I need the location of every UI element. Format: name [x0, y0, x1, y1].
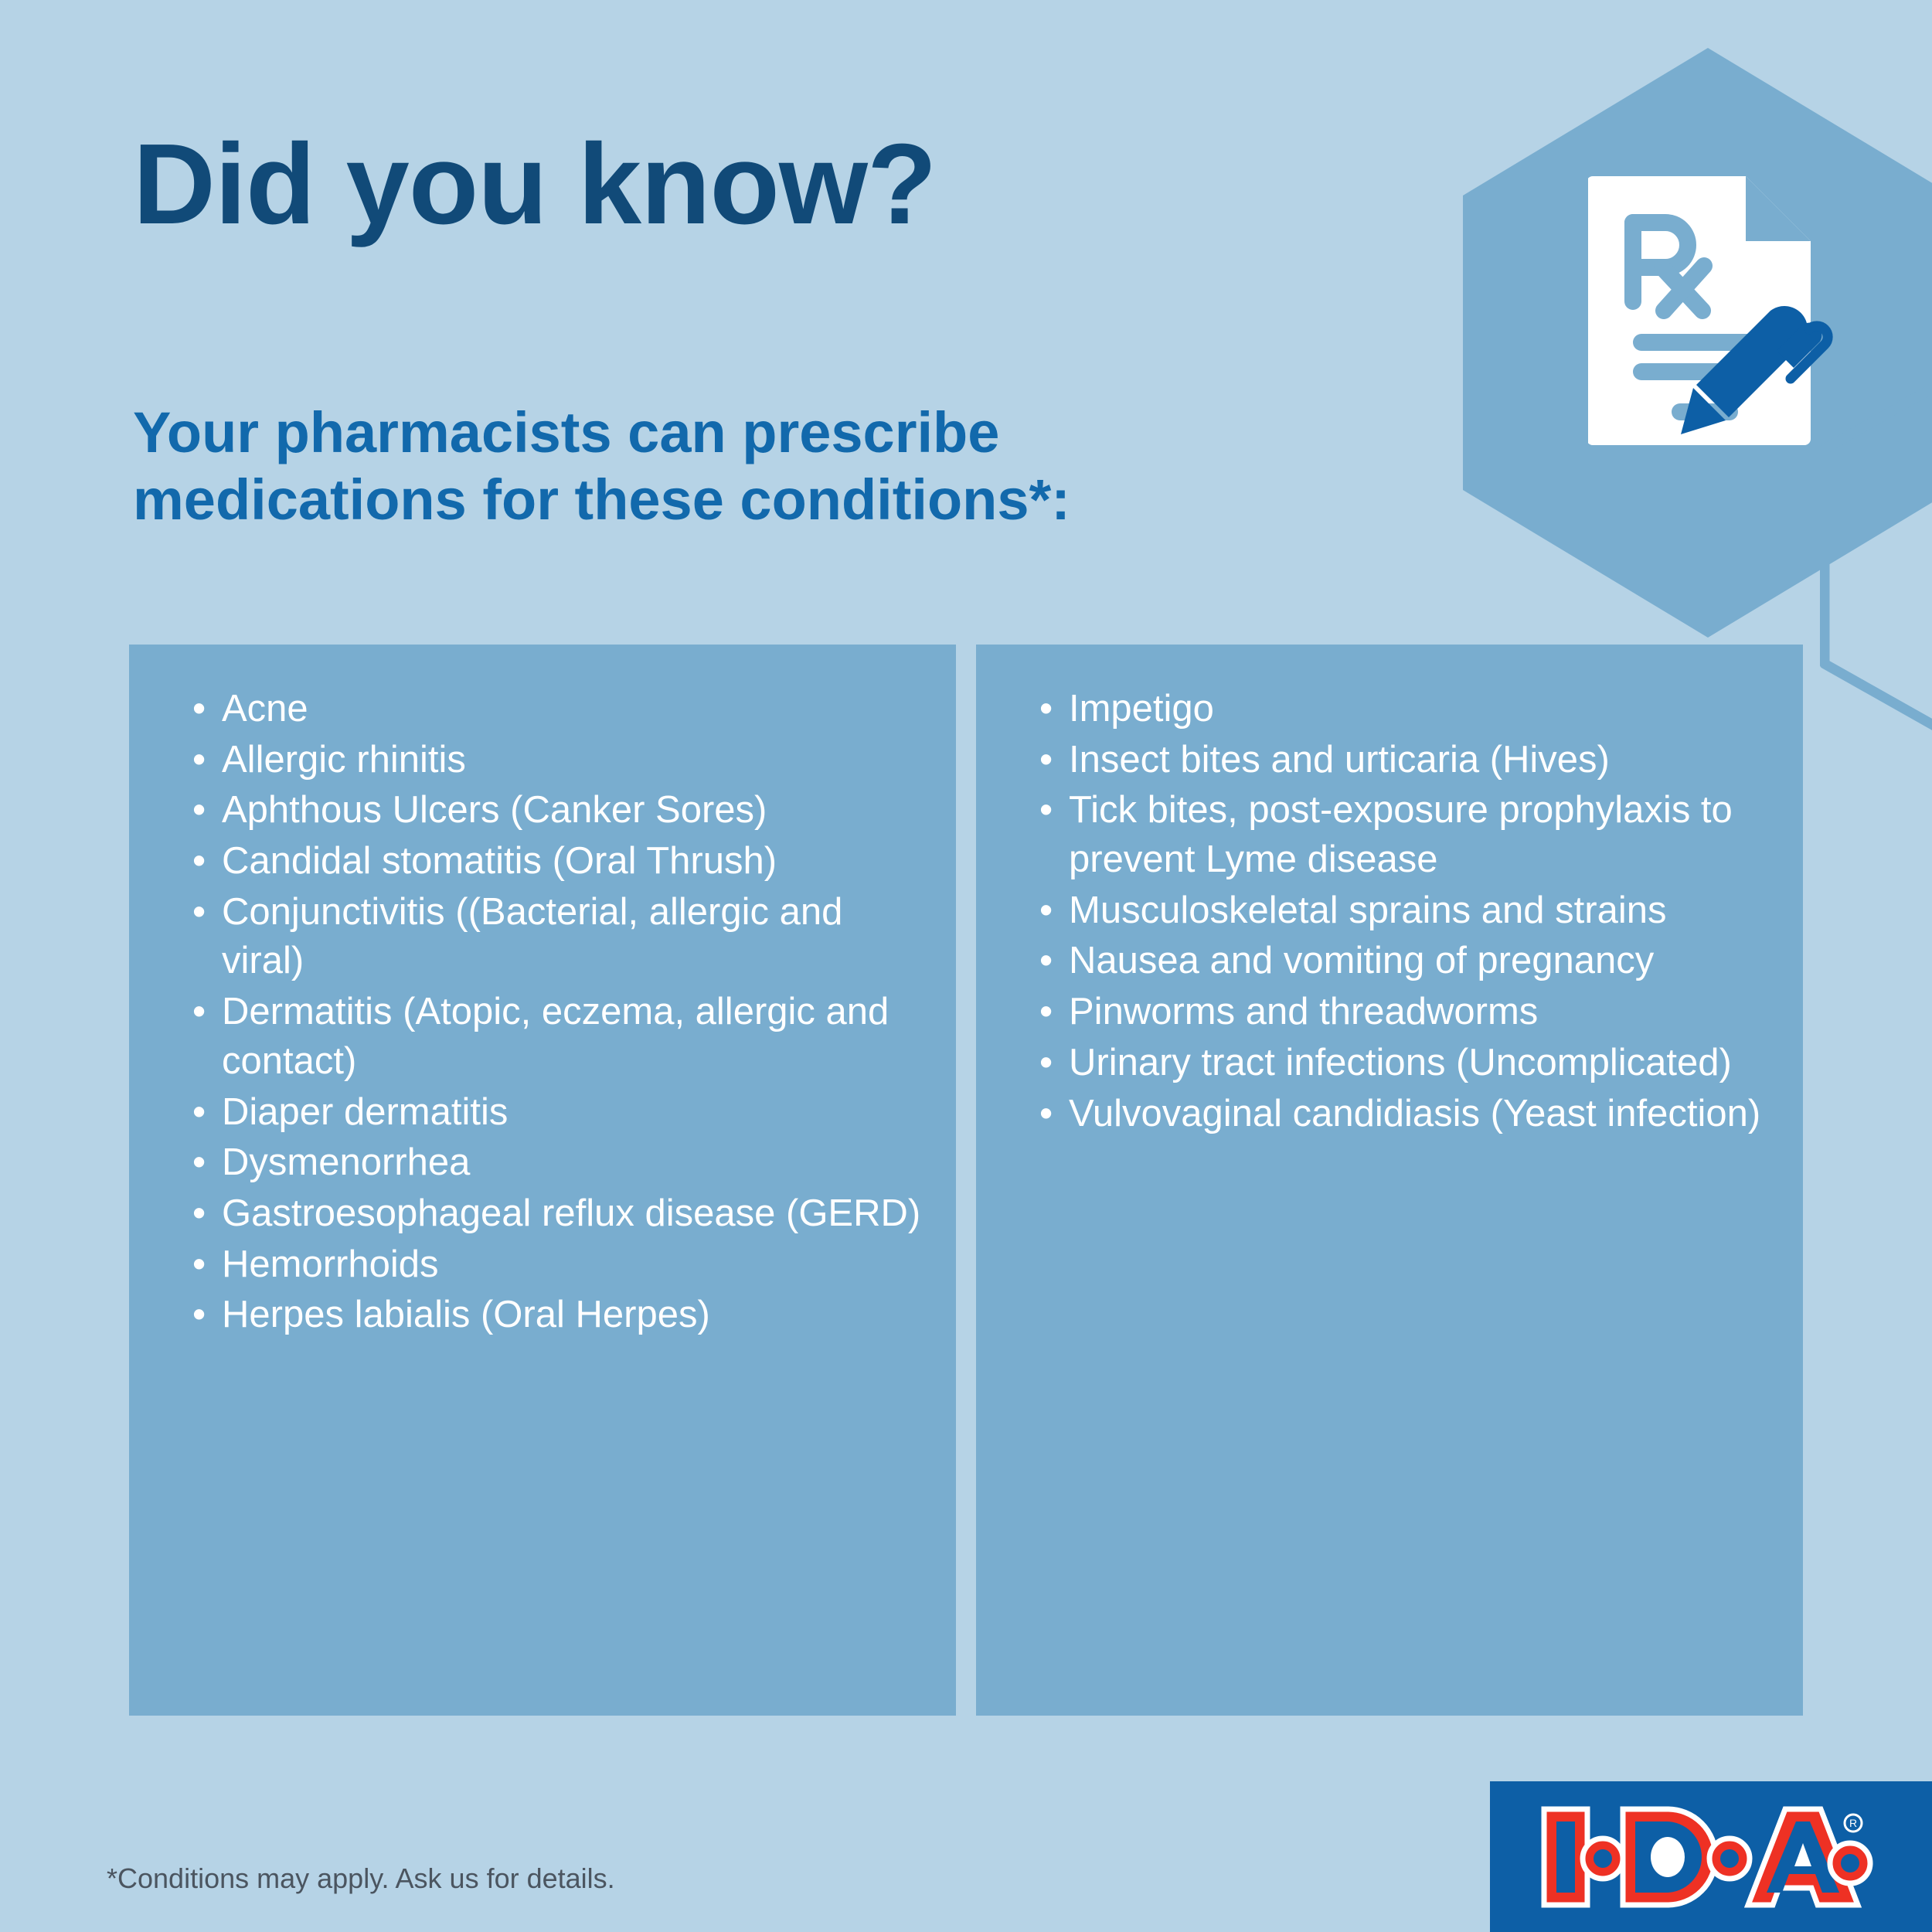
condition-item: Aphthous Ulcers (Canker Sores) — [192, 786, 925, 835]
condition-item: Vulvovaginal candidiasis (Yeast infectio… — [1039, 1090, 1772, 1139]
condition-item: Hemorrhoids — [192, 1240, 925, 1290]
conditions-panel-right: ImpetigoInsect bites and urticaria (Hive… — [976, 645, 1803, 1716]
page-subtitle: Your pharmacists can prescribe medicatio… — [133, 399, 1070, 534]
condition-item: Conjunctivitis ((Bacterial, allergic and… — [192, 888, 925, 986]
condition-item: Pinworms and threadworms — [1039, 988, 1772, 1037]
condition-item: Impetigo — [1039, 685, 1772, 734]
prescription-document-with-pen-icon — [1588, 170, 1835, 448]
conditions-list-right: ImpetigoInsect bites and urticaria (Hive… — [976, 645, 1803, 1138]
condition-item: Acne — [192, 685, 925, 734]
condition-item: Dysmenorrhea — [192, 1138, 925, 1188]
condition-item: Allergic rhinitis — [192, 736, 925, 785]
condition-item: Diaper dermatitis — [192, 1088, 925, 1138]
condition-item: Urinary tract infections (Uncomplicated) — [1039, 1039, 1772, 1088]
condition-item: Tick bites, post-exposure prophylaxis to… — [1039, 786, 1772, 884]
page-title: Did you know? — [133, 128, 936, 242]
conditions-list-left: AcneAllergic rhinitisAphthous Ulcers (Ca… — [129, 645, 956, 1340]
condition-item: Nausea and vomiting of pregnancy — [1039, 937, 1772, 986]
hexagon-outline-decor — [1820, 355, 1932, 757]
svg-text:R: R — [1849, 1817, 1857, 1829]
ida-logo-block: R — [1490, 1781, 1932, 1932]
conditions-panel-left: AcneAllergic rhinitisAphthous Ulcers (Ca… — [129, 645, 956, 1716]
ida-logo-icon: R — [1538, 1803, 1878, 1911]
infographic-canvas: Did you know? Your pharmacists can presc… — [0, 0, 1932, 1932]
footnote-disclaimer: *Conditions may apply. Ask us for detail… — [107, 1862, 615, 1895]
condition-item: Dermatitis (Atopic, eczema, allergic and… — [192, 988, 925, 1086]
condition-item: Herpes labialis (Oral Herpes) — [192, 1291, 925, 1340]
condition-item: Musculoskeletal sprains and strains — [1039, 886, 1772, 936]
condition-item: Insect bites and urticaria (Hives) — [1039, 736, 1772, 785]
condition-item: Gastroesophageal reflux disease (GERD) — [192, 1189, 925, 1239]
condition-item: Candidal stomatitis (Oral Thrush) — [192, 837, 925, 886]
